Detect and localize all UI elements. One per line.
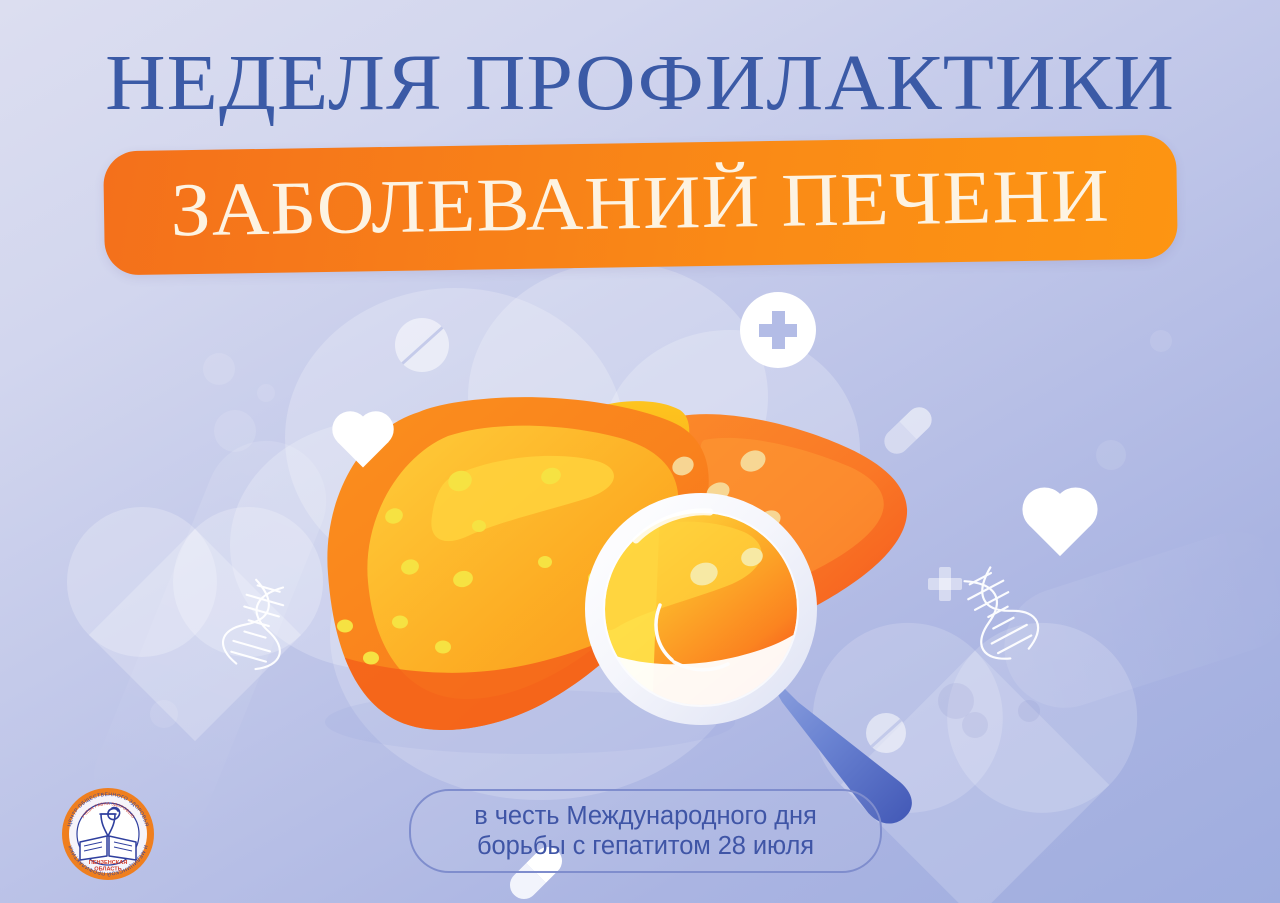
page-title-line-2: ЗАБОЛЕВАНИЙ ПЕЧЕНИ [170, 158, 1110, 249]
page-title-line-1: НЕДЕЛЯ ПРОФИЛАКТИКИ [0, 46, 1280, 121]
bubble-7 [1096, 440, 1126, 470]
cross-glyph [759, 311, 797, 349]
poster-title-block: НЕДЕЛЯ ПРОФИЛАКТИКИ [0, 46, 1280, 121]
bubble-8 [1150, 330, 1172, 352]
organization-logo: ЦЕНТР ОБЩЕСТВЕННОГО ЗДОРОВЬЯ И МЕДИЦИНСК… [60, 786, 156, 882]
tablet-pill-icon-top [395, 318, 449, 372]
bubble-6 [1018, 700, 1040, 722]
poster-root: НЕДЕЛЯ ПРОФИЛАКТИКИ ЗАБОЛЕВАНИЙ ПЕЧЕНИ [0, 0, 1280, 903]
logo-region-line-1: ПЕНЗЕНСКАЯ [89, 860, 128, 866]
logo-region-line-2: ОБЛАСТЬ [94, 867, 121, 873]
tablet-pill-icon-right [866, 713, 906, 753]
bubble-2 [257, 384, 275, 402]
event-caption-text: в честь Международного дня борьбы с гепа… [474, 801, 816, 861]
medical-cross-circle-icon [740, 292, 816, 368]
bubble-1 [203, 353, 235, 385]
title-banner: ЗАБОЛЕВАНИЙ ПЕЧЕНИ [103, 135, 1178, 276]
event-caption: в честь Международного дня борьбы с гепа… [409, 789, 882, 873]
